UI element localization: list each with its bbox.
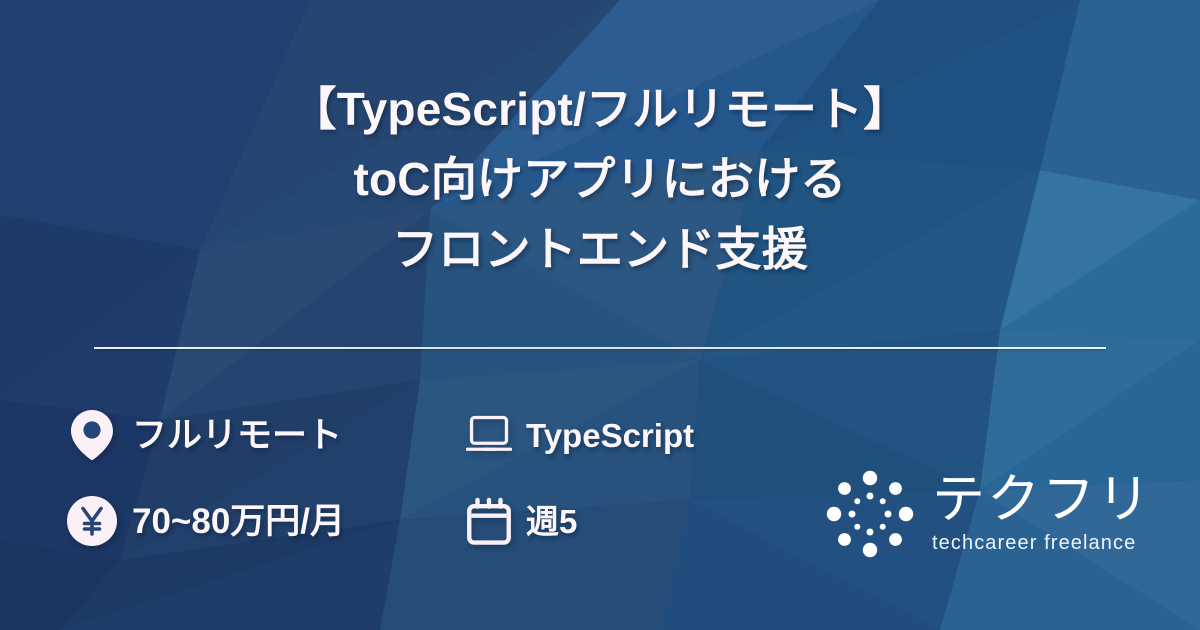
laptop-icon	[466, 409, 512, 461]
title-line-1: 【TypeScript/フルリモート】	[0, 74, 1200, 144]
yen-coin-icon	[66, 495, 118, 547]
info-item-pay: 70~80万円/月	[66, 495, 466, 547]
ogp-card: 【TypeScript/フルリモート】 toC向けアプリにおける フロントエンド…	[0, 0, 1200, 630]
job-info-grid: フルリモート TypeScript	[66, 392, 694, 564]
logo-name-jp: テクフリ	[932, 473, 1152, 527]
title-line-2: toC向けアプリにおける	[0, 144, 1200, 214]
info-item-location: フルリモート	[66, 409, 466, 461]
title-line-3: フロントエンド支援	[0, 214, 1200, 284]
info-item-skill: TypeScript	[466, 409, 694, 461]
map-pin-icon	[66, 409, 118, 461]
logo-tagline: techcareer freelance	[932, 531, 1136, 555]
calendar-icon	[466, 495, 512, 547]
info-item-days: 週5	[466, 495, 694, 547]
techfree-dots-icon	[822, 466, 918, 562]
section-divider	[94, 347, 1106, 349]
info-label-location: フルリモート	[132, 418, 342, 453]
info-label-skill: TypeScript	[526, 419, 694, 452]
techfree-logo: テクフリ techcareer freelance	[822, 462, 1142, 566]
page-title: 【TypeScript/フルリモート】 toC向けアプリにおける フロントエンド…	[0, 74, 1200, 284]
info-label-pay: 70~80万円/月	[132, 504, 345, 539]
info-label-days: 週5	[526, 505, 577, 538]
logo-wordmark: テクフリ techcareer freelance	[932, 473, 1152, 554]
